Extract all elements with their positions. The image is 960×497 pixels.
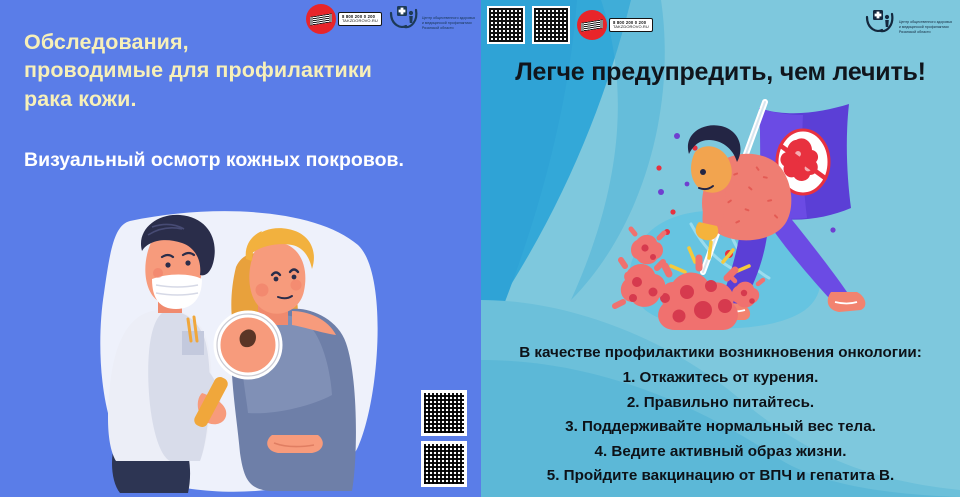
health-center-line2: и медицинской профилактики bbox=[422, 21, 472, 25]
left-illustration bbox=[96, 207, 384, 497]
left-qr-stack bbox=[421, 390, 467, 487]
list-item: 3. Поддерживайте нормальный вес тела. bbox=[481, 415, 960, 440]
poster-root: 8 800 200 0 200 TAKZDOROVO.RU bbox=[0, 0, 960, 497]
qr-code-1[interactable] bbox=[421, 390, 467, 436]
qr-code-2[interactable] bbox=[532, 6, 570, 44]
qr-code-1[interactable] bbox=[487, 6, 525, 44]
prevention-list-lead: В качестве профилактики возникновения он… bbox=[481, 341, 960, 366]
health-center-logo: Центр общественного здоровьяи медицинско… bbox=[865, 8, 952, 36]
right-illustration bbox=[599, 96, 899, 346]
health-center-mark-icon bbox=[865, 8, 895, 34]
health-center-line3: Рязанской области bbox=[899, 30, 931, 34]
right-heading: Легче предупредить, чем лечить! bbox=[481, 58, 960, 87]
takzdorovo-logo: 8 800 200 0 200 TAKZDOROVO.RU bbox=[577, 10, 653, 40]
right-panel: 8 800 200 0 200 TAKZDOROVO.RU Центр обще… bbox=[481, 0, 960, 497]
right-logo-row: 8 800 200 0 200 TAKZDOROVO.RU bbox=[487, 6, 653, 44]
takzdorovo-site: TAKZDOROVO.RU bbox=[613, 25, 649, 29]
left-heading: Обследования, проводимые для профилактик… bbox=[24, 28, 444, 113]
left-panel: 8 800 200 0 200 TAKZDOROVO.RU bbox=[0, 0, 481, 497]
qr-code-2[interactable] bbox=[421, 441, 467, 487]
list-item: 2. Правильно питайтесь. bbox=[481, 391, 960, 416]
takzdorovo-site: TAKZDOROVO.RU bbox=[342, 19, 378, 23]
health-center-line1: Центр общественного здоровья bbox=[899, 20, 952, 24]
health-center-mark-icon bbox=[389, 4, 419, 30]
health-center-line2: и медицинской профилактики bbox=[899, 25, 949, 29]
list-item: 1. Откажитесь от курения. bbox=[481, 366, 960, 391]
health-center-caption: Центр общественного здоровьяи медицинско… bbox=[899, 8, 952, 36]
left-subtitle: Визуальный осмотр кожных покровов. bbox=[24, 148, 454, 173]
list-item: 5. Пройдите вакцинацию от ВПЧ и гепатита… bbox=[481, 464, 960, 489]
takzdorovo-phone-block: 8 800 200 0 200 TAKZDOROVO.RU bbox=[338, 12, 382, 27]
list-item: 4. Ведите активный образ жизни. bbox=[481, 440, 960, 465]
prevention-list: В качестве профилактики возникновения он… bbox=[481, 341, 960, 489]
health-center-line1: Центр общественного здоровья bbox=[422, 16, 475, 20]
takzdorovo-phone-block: 8 800 200 0 200 TAKZDOROVO.RU bbox=[609, 18, 653, 33]
takzdorovo-circle-icon bbox=[577, 10, 607, 40]
